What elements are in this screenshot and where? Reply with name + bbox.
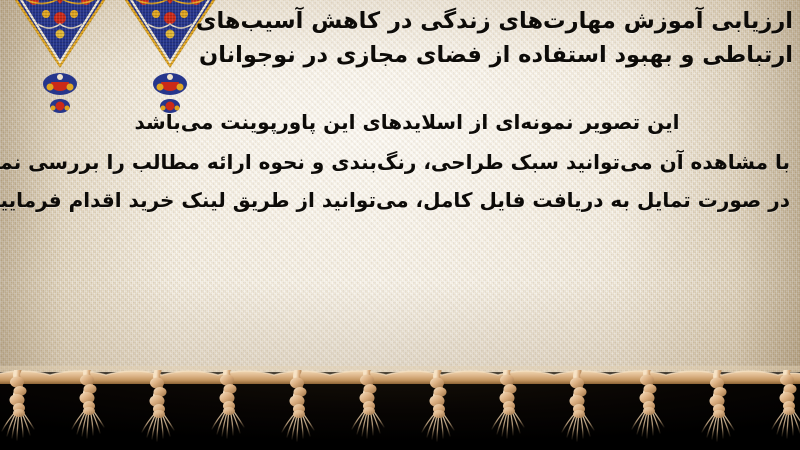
tassel [282,371,314,441]
tassel [422,371,454,441]
tassel [142,371,174,441]
tassel [352,370,384,438]
tassel [2,370,34,440]
presentation-slide: ارزیابی آموزش مهارت‌های زندگی در کاهش آس… [0,0,800,450]
slide-title: ارزیابی آموزش مهارت‌های زندگی در کاهش آس… [235,4,793,72]
tassel [702,371,734,441]
tassel [562,371,594,441]
tassel [772,370,800,438]
tassel [632,370,664,438]
tassel [212,370,244,438]
slide-title-line-2: ارتباطی و بهبود استفاده از فضای مجازی در… [235,38,793,72]
carpet-tassel-row-icon [0,370,800,450]
slide-title-line-1: ارزیابی آموزش مهارت‌های زندگی در کاهش آس… [235,4,793,38]
tassel [72,370,104,438]
body-line-1: این تصویر نمونه‌ای از اسلایدهای این پاور… [24,112,790,132]
body-line-2: با مشاهده آن می‌توانید سبک طراحی، رنگ‌بن… [24,152,790,172]
body-line-3: در صورت تمایل به دریافت فایل کامل، می‌تو… [24,190,790,210]
slide-body: این تصویر نمونه‌ای از اسلایدهای این پاور… [24,112,790,210]
persian-medallion-left-icon [8,0,112,114]
tassel [492,370,524,438]
